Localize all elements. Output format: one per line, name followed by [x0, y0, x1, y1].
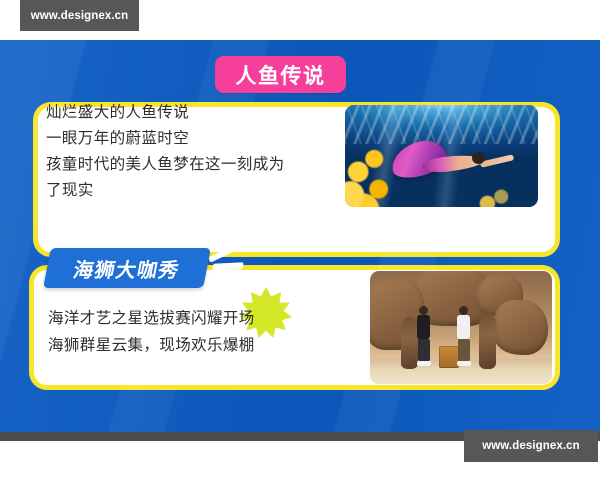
watermark-bottom-text: www.designex.cn — [482, 440, 580, 452]
trainer-right-legs — [458, 339, 470, 361]
trainer-right-shoes — [457, 361, 471, 366]
watermark-top: www.designex.cn — [20, 0, 139, 31]
yellow-coral — [345, 143, 403, 207]
trainer-left-torso — [417, 315, 430, 339]
sea-lion-left — [401, 317, 418, 369]
sea-lion-arena-scene — [370, 271, 552, 384]
trainer-right-head — [459, 306, 468, 315]
watermark-bottom: www.designex.cn — [464, 430, 598, 462]
badge-sea-lion-label: 海狮大咖秀 — [71, 254, 183, 283]
sea-lion-body-line-1: 海洋才艺之星选拔赛闪耀开场 — [48, 305, 348, 332]
sea-lion-show-photo — [370, 271, 552, 384]
trainer-right-torso — [457, 315, 470, 339]
sea-lion-body-line-2: 海狮群星云集，现场欢乐爆棚 — [48, 332, 348, 359]
card-mermaid-legend-body: 灿烂盛大的人鱼传说 一眼万年的蔚蓝时空 孩童时代的美人鱼梦在这一刻成为 了现实 — [46, 100, 336, 204]
mermaid-underwater-photo — [345, 105, 538, 207]
trainer-left-head — [419, 306, 428, 315]
trainer-left-shoes — [417, 361, 431, 366]
watermark-top-text: www.designex.cn — [31, 10, 129, 22]
trainer-left — [417, 306, 430, 366]
mermaid-body-line-1: 灿烂盛大的人鱼传说 — [46, 100, 336, 126]
rock-formation-right — [494, 300, 549, 354]
card-sea-lion-show-body: 海洋才艺之星选拔赛闪耀开场 海狮群星云集，现场欢乐爆棚 — [48, 305, 348, 359]
speed-line-icon-3 — [209, 270, 234, 286]
trainer-right — [457, 306, 470, 366]
sea-lion-right — [479, 312, 496, 369]
speed-line-icon-2 — [212, 262, 243, 271]
badge-sea-lion-label-wrap: 海狮大咖秀 — [43, 248, 211, 288]
mermaid-body-line-3: 孩童时代的美人鱼梦在这一刻成为 — [46, 152, 336, 178]
underwater-scene — [345, 105, 538, 207]
badge-mermaid-legend-label: 人鱼传说 — [236, 60, 326, 90]
trainer-left-legs — [418, 339, 430, 361]
mermaid-body-line-4: 了现实 — [46, 178, 336, 204]
speed-line-icon-1 — [208, 245, 235, 263]
badge-mermaid-legend: 人鱼传说 — [215, 56, 346, 93]
prop-crate — [439, 346, 459, 368]
poster-page: www.designex.cn 人鱼传说 灿烂盛大的人鱼传说 一眼万年的蔚蓝时空… — [0, 0, 600, 480]
poster-canvas: 人鱼传说 灿烂盛大的人鱼传说 一眼万年的蔚蓝时空 孩童时代的美人鱼梦在这一刻成为… — [0, 40, 600, 432]
mermaid-body-line-2: 一眼万年的蔚蓝时空 — [46, 126, 336, 152]
yellow-coral-secondary — [469, 183, 515, 207]
badge-sea-lion-show: 海狮大咖秀 — [47, 248, 247, 290]
